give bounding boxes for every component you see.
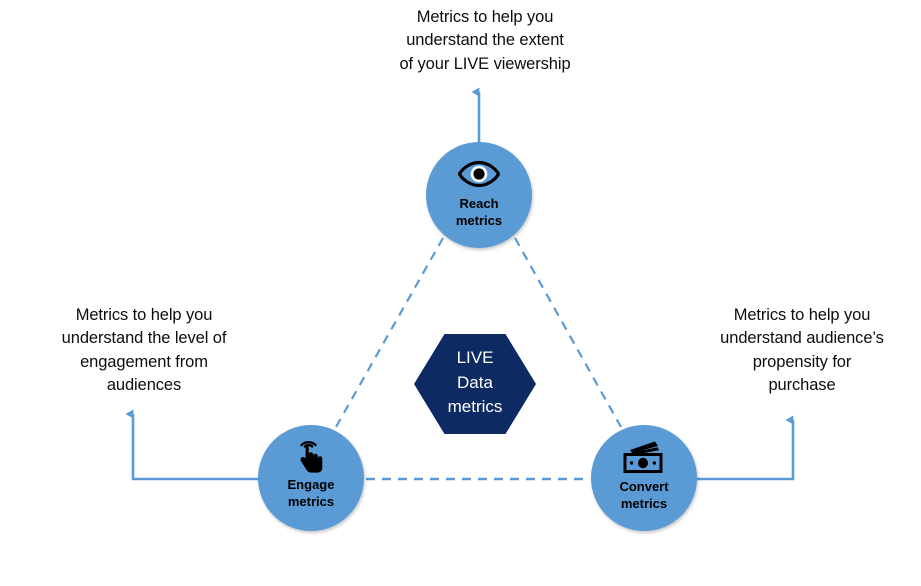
hub-label: LIVE Data metrics [414,346,536,420]
arrow-convert-callout [694,420,793,479]
node-convert-metrics[interactable]: Convert metrics [591,425,697,531]
node-reach-metrics[interactable]: Reach metrics [426,142,532,248]
node-reach-label: Reach metrics [456,195,502,230]
callout-reach-metrics: Metrics to help you understand the exten… [370,6,600,76]
diagram-canvas: Metrics to help you understand the exten… [0,0,921,586]
live-data-metrics-hub[interactable]: LIVE Data metrics [414,334,536,434]
node-engage-label: Engage metrics [288,476,335,511]
eye-icon [458,154,500,194]
money-icon [621,437,667,477]
node-engage-metrics[interactable]: Engage metrics [258,425,364,531]
node-convert-label: Convert metrics [619,478,668,513]
arrow-engage-callout [133,414,262,479]
callout-convert-metrics: Metrics to help you understand audience’… [688,304,916,398]
callout-engage-metrics: Metrics to help you understand the level… [30,304,258,398]
tap-hand-icon [294,435,328,475]
connector-layer [0,0,921,586]
